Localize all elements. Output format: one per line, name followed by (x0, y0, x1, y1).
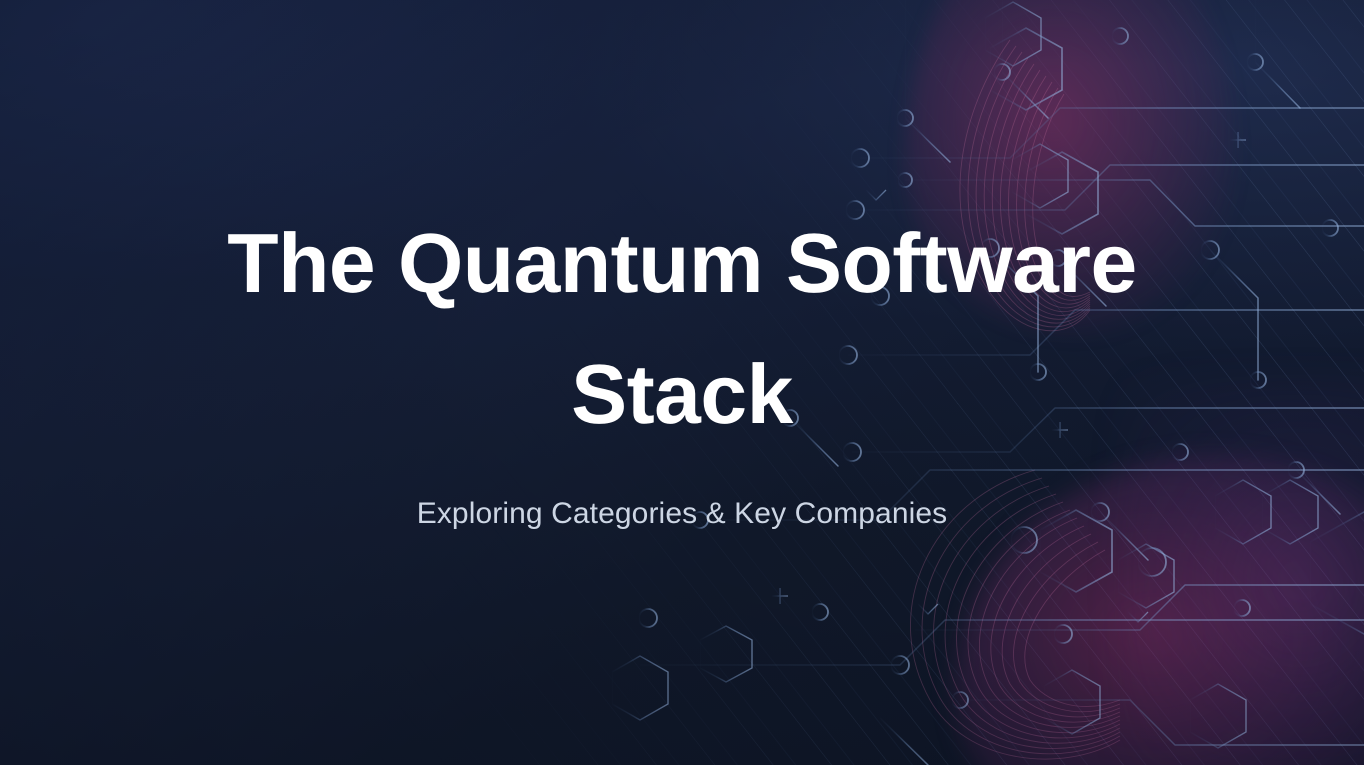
slide-content: The Quantum Software Stack Exploring Cat… (0, 0, 1364, 765)
page-title: The Quantum Software Stack (147, 198, 1217, 460)
slide-subtitle: Exploring Categories & Key Companies (417, 494, 948, 534)
title-slide: The Quantum Software Stack Exploring Cat… (0, 0, 1364, 765)
